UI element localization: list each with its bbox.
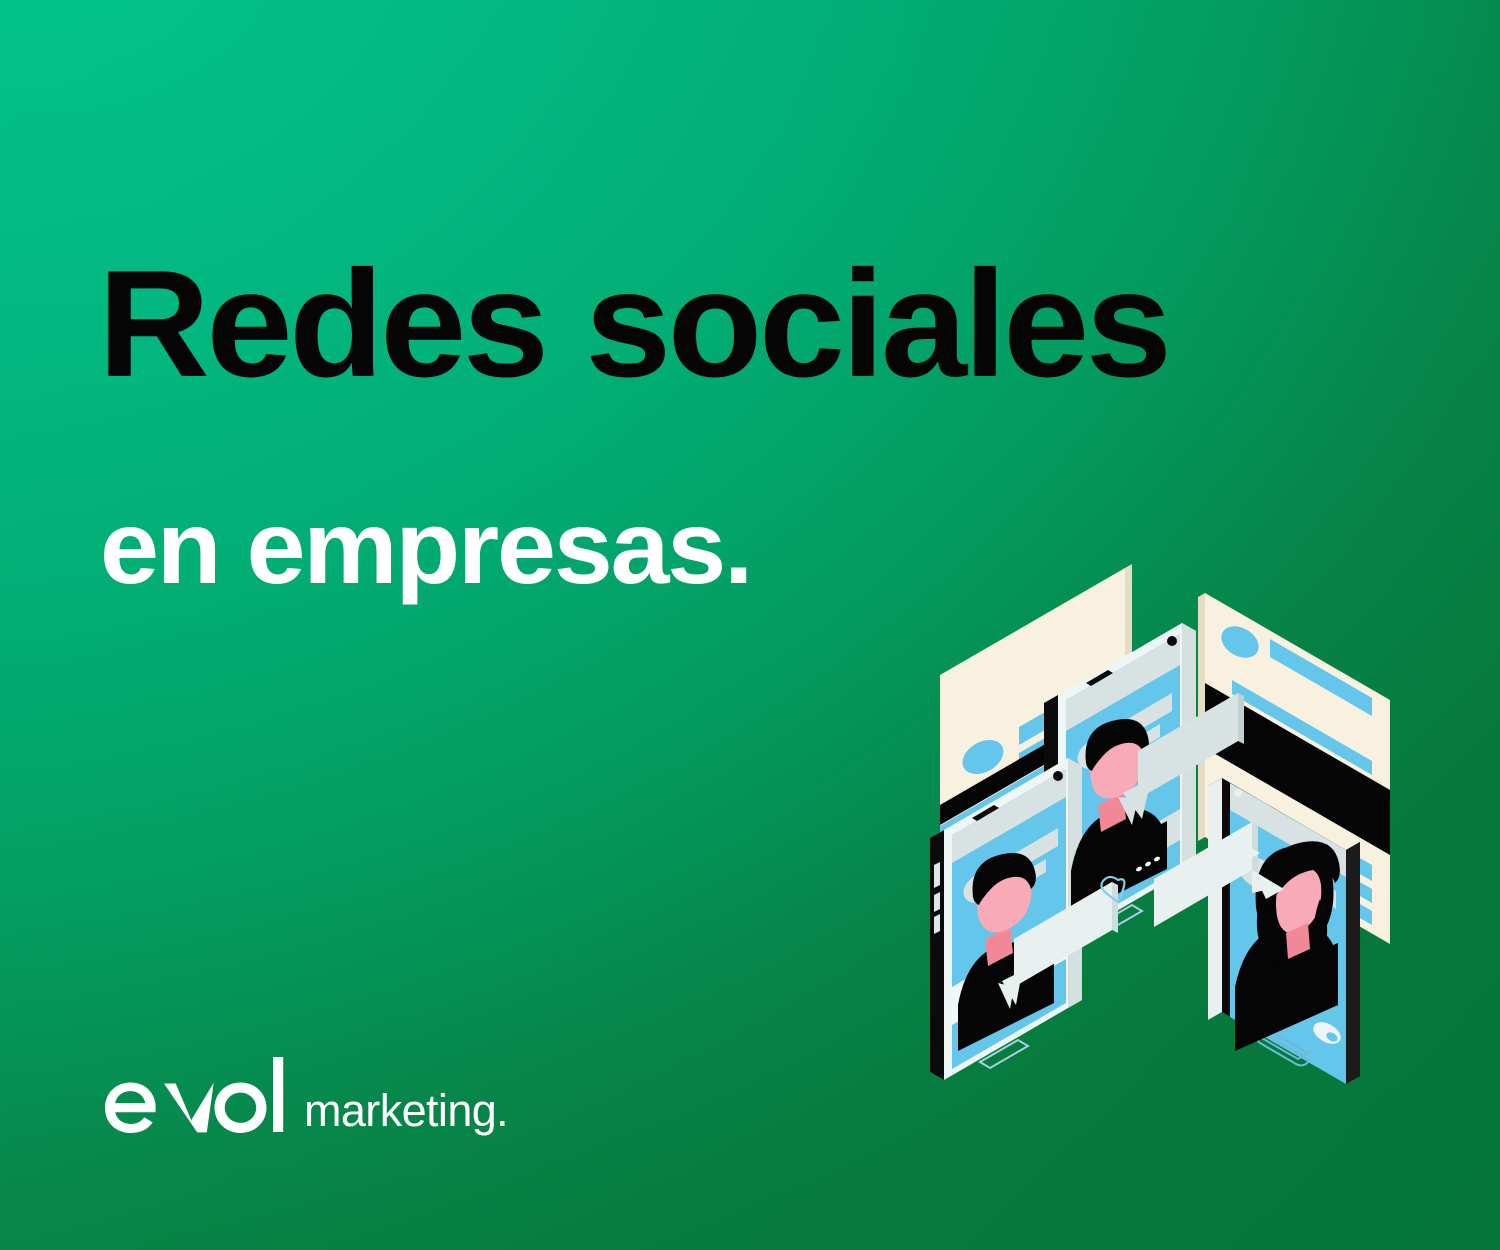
logo-wordmark: marketing. — [304, 1088, 508, 1133]
headline-primary: Redes sociales — [98, 248, 1168, 400]
headline-secondary: en empresas. — [100, 496, 751, 600]
illustration-social-media-phones — [880, 535, 1500, 1185]
brand-logo[interactable]: marketing. — [100, 1055, 508, 1147]
evol-logomark-icon — [100, 1055, 290, 1147]
